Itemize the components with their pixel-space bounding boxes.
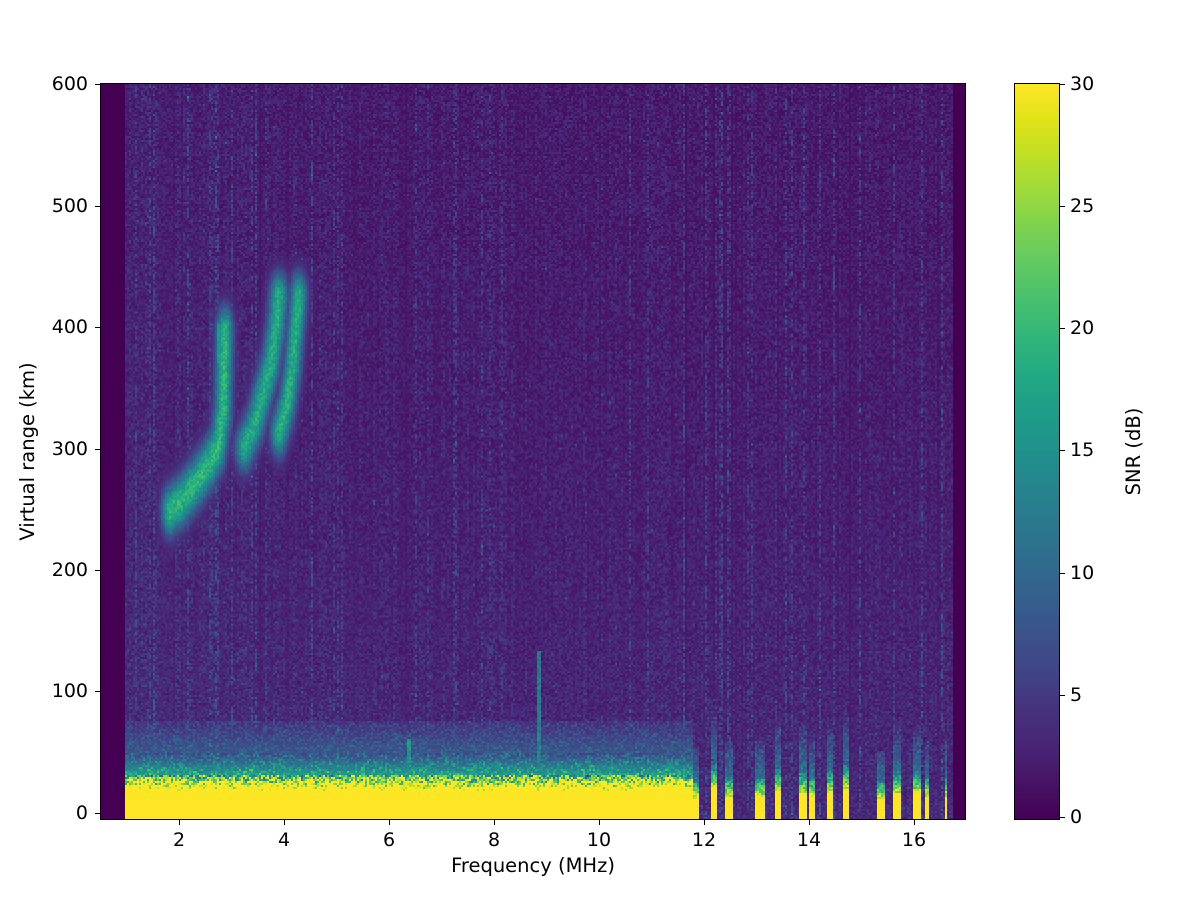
y-tick-mark bbox=[95, 206, 100, 207]
x-tick-mark bbox=[494, 820, 495, 825]
colorbar-tick-mark bbox=[1060, 328, 1065, 329]
colorbar-tick-label: 10 bbox=[1070, 563, 1094, 583]
y-tick-mark bbox=[95, 327, 100, 328]
x-tick-label: 2 bbox=[149, 828, 209, 852]
colorbar-tick-mark bbox=[1060, 450, 1065, 451]
x-tick-label: 14 bbox=[779, 828, 839, 852]
x-tick-mark bbox=[389, 820, 390, 825]
colorbar-label: SNR (dB) bbox=[1122, 83, 1152, 820]
y-tick-mark bbox=[95, 813, 100, 814]
ionogram-figure: IRF Kiruna Ionosonde KI167 2025-09-24 18… bbox=[0, 0, 1200, 900]
y-tick-label: 500 bbox=[8, 196, 88, 216]
colorbar-tick-mark bbox=[1060, 817, 1065, 818]
x-tick-label: 4 bbox=[254, 828, 314, 852]
x-tick-mark bbox=[284, 820, 285, 825]
y-tick-mark bbox=[95, 84, 100, 85]
x-axis-label: Frequency (MHz) bbox=[100, 854, 966, 877]
colorbar-tick-label: 30 bbox=[1070, 74, 1094, 94]
colorbar-tick-mark bbox=[1060, 573, 1065, 574]
y-tick-label: 0 bbox=[8, 803, 88, 823]
colorbar-tick-mark bbox=[1060, 206, 1065, 207]
colorbar-tick-label: 20 bbox=[1070, 318, 1094, 338]
x-tick-label: 16 bbox=[884, 828, 944, 852]
x-tick-label: 12 bbox=[674, 828, 734, 852]
x-tick-mark bbox=[704, 820, 705, 825]
y-tick-mark bbox=[95, 449, 100, 450]
colorbar-tick-label: 15 bbox=[1070, 440, 1094, 460]
x-tick-label: 10 bbox=[569, 828, 629, 852]
colorbar-gradient bbox=[1015, 84, 1059, 819]
y-tick-label: 300 bbox=[8, 439, 88, 459]
x-tick-label: 6 bbox=[359, 828, 419, 852]
x-tick-mark bbox=[599, 820, 600, 825]
colorbar-tick-mark bbox=[1060, 84, 1065, 85]
colorbar-tick-mark bbox=[1060, 695, 1065, 696]
x-tick-mark bbox=[179, 820, 180, 825]
x-tick-mark bbox=[809, 820, 810, 825]
colorbar[interactable] bbox=[1014, 83, 1060, 820]
colorbar-tick-label: 25 bbox=[1070, 196, 1094, 216]
x-tick-mark bbox=[914, 820, 915, 825]
ionogram-heatmap bbox=[101, 84, 966, 820]
colorbar-tick-label: 0 bbox=[1070, 807, 1082, 827]
x-tick-label: 8 bbox=[464, 828, 524, 852]
y-tick-mark bbox=[95, 691, 100, 692]
ionogram-plot-area[interactable] bbox=[100, 83, 966, 820]
y-tick-label: 600 bbox=[8, 74, 88, 94]
y-tick-label: 100 bbox=[8, 681, 88, 701]
y-tick-mark bbox=[95, 570, 100, 571]
y-tick-label: 400 bbox=[8, 317, 88, 337]
colorbar-tick-label: 5 bbox=[1070, 685, 1082, 705]
y-tick-label: 200 bbox=[8, 560, 88, 580]
